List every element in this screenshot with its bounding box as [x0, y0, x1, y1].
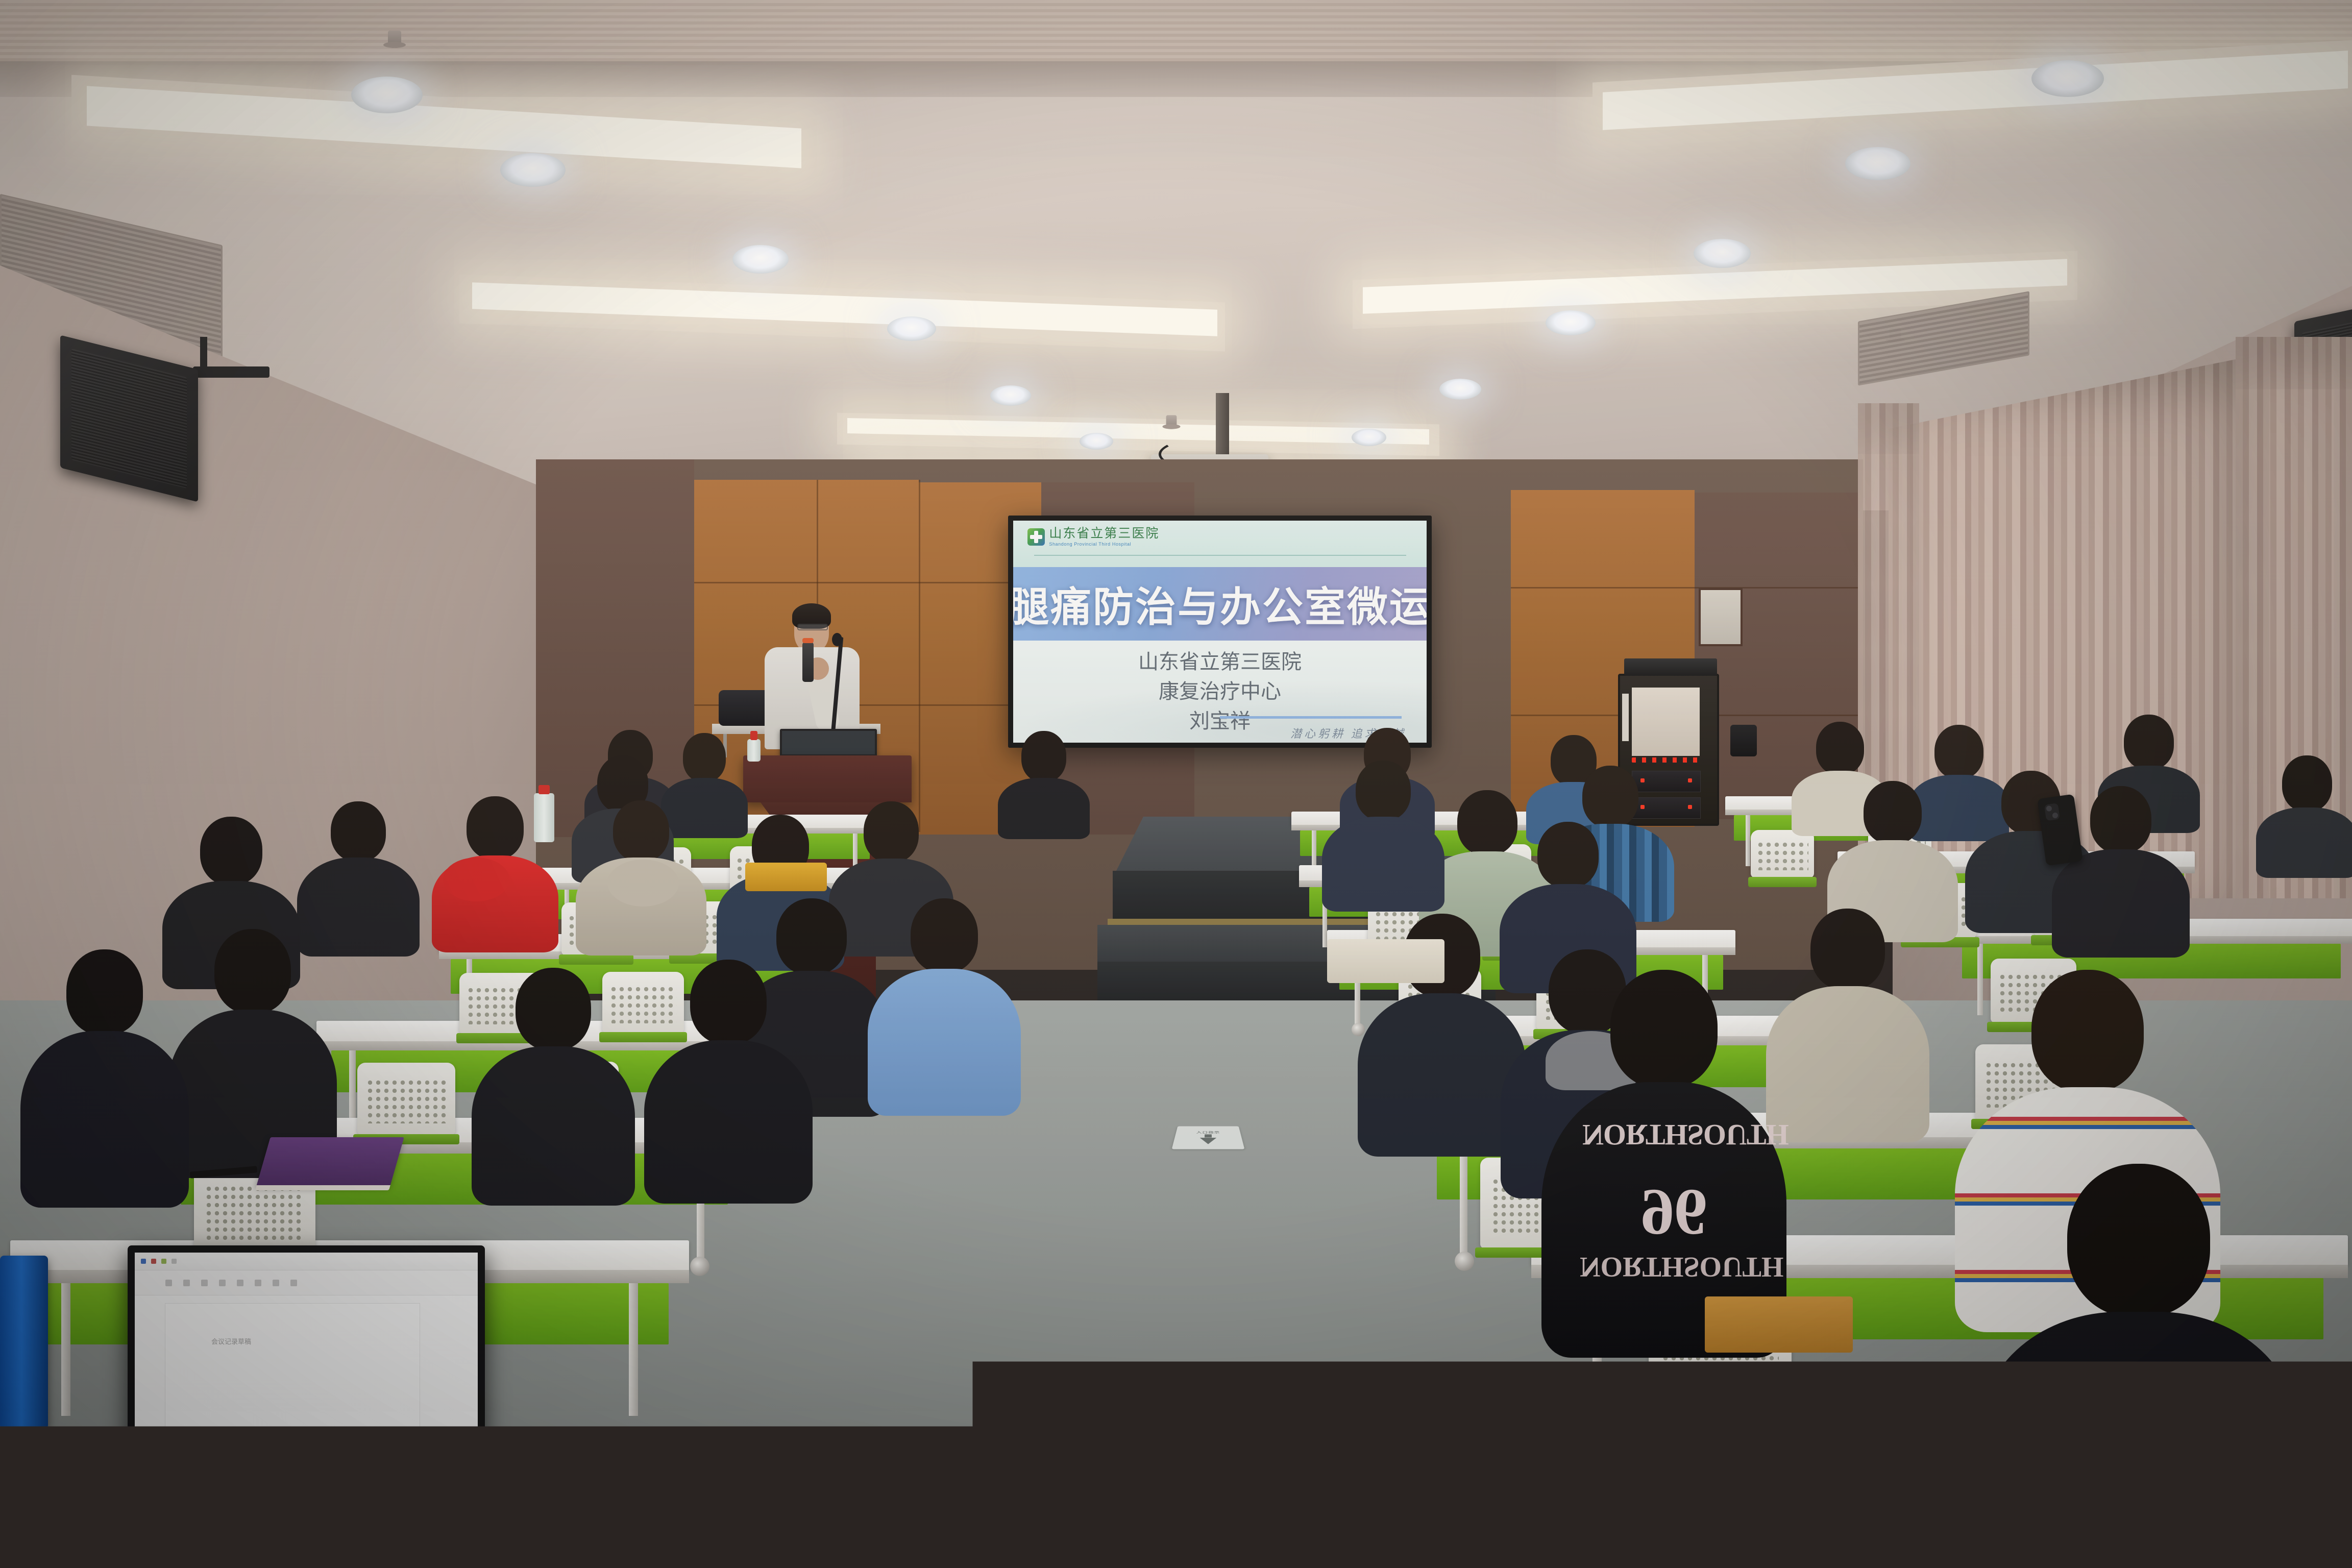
hoodie-hood — [607, 860, 679, 906]
chair-seat — [559, 954, 634, 965]
sprinkler-head-1 — [388, 31, 401, 48]
podium-laptop-screen — [782, 731, 875, 754]
save-icon[interactable] — [151, 1259, 156, 1264]
laptop-base[interactable] — [117, 1496, 496, 1568]
chair — [357, 1063, 455, 1135]
app-toolbar[interactable] — [135, 1270, 478, 1295]
downlight-11 — [1845, 147, 1910, 180]
desk-caster — [690, 1257, 709, 1276]
table-icon[interactable] — [273, 1280, 279, 1286]
affiliation-line-1: 山东省立第三医院 — [1013, 647, 1427, 677]
speaker-arm-left — [193, 366, 269, 378]
podium-top — [743, 755, 912, 802]
slide-title: 颈肩腰腿痛防治与办公室微运动康复 — [1013, 567, 1427, 641]
floor-direction-marker: 入口指示 — [1172, 1126, 1245, 1149]
downlight-10 — [1694, 239, 1751, 268]
slide-affiliation: 山东省立第三医院 康复治疗中心 刘宝祥 — [1013, 647, 1427, 736]
chair — [1751, 830, 1814, 878]
podium-laptop — [780, 729, 877, 756]
bold-icon[interactable] — [165, 1280, 172, 1286]
graffiti-number: 96 — [1623, 1174, 1725, 1251]
laptop-keyboard[interactable] — [136, 1505, 477, 1568]
desk-leg — [629, 1283, 638, 1416]
person-torso — [868, 969, 1021, 1116]
chair-perforations — [1756, 841, 1808, 870]
downlight-1 — [351, 77, 423, 113]
downlight-9 — [1546, 310, 1596, 335]
person-torso — [20, 1031, 189, 1208]
down-arrow-icon — [1199, 1138, 1217, 1144]
bottle-cap — [750, 731, 758, 740]
app-menu-icon[interactable] — [141, 1259, 146, 1264]
yellow-folder — [745, 863, 827, 891]
person-head — [200, 817, 262, 885]
logo-text-cn: 山东省立第三医院 — [1049, 527, 1159, 540]
rack-dust-cover — [1632, 688, 1700, 755]
person-head — [683, 733, 726, 782]
underline-icon[interactable] — [201, 1280, 208, 1286]
hospital-logo: 山东省立第三医院 Shandong Provincial Third Hospi… — [1027, 527, 1159, 547]
speaker-grille-left — [71, 349, 187, 489]
taskbar[interactable] — [135, 1468, 478, 1488]
desk-caster — [1455, 1252, 1474, 1271]
chat-icon[interactable] — [227, 1474, 235, 1482]
downlight-12 — [2031, 60, 2104, 97]
medical-cross-icon — [1027, 528, 1045, 546]
audience-member — [644, 960, 813, 1199]
presentation-slide: 山东省立第三医院 Shandong Provincial Third Hospi… — [1013, 521, 1427, 743]
audience-member-beige-hoodie — [576, 800, 706, 953]
person-torso — [998, 778, 1090, 839]
folder-icon[interactable] — [178, 1474, 186, 1482]
keyboard-row — [136, 1550, 477, 1560]
app-titlebar[interactable] — [135, 1253, 478, 1270]
downlight-4 — [887, 316, 936, 341]
camera-lens-1 — [2046, 805, 2052, 812]
audience-member — [998, 731, 1090, 833]
audio-mixer — [1624, 658, 1717, 676]
person-head — [613, 800, 669, 862]
person-head — [214, 929, 291, 1014]
list-icon[interactable] — [255, 1280, 261, 1286]
desk-leg — [61, 1283, 70, 1416]
person-head — [1356, 761, 1411, 821]
gooseneck-mic-head — [832, 633, 842, 646]
handheld-microphone — [802, 642, 814, 682]
person-head — [864, 801, 919, 863]
chair-seat — [1748, 877, 1817, 887]
person-head — [911, 898, 978, 973]
mail-icon[interactable] — [210, 1474, 218, 1482]
water-bottle-desk[interactable] — [534, 793, 554, 842]
person-torso — [2052, 849, 2190, 958]
rack-led-indicators — [1632, 757, 1700, 763]
document-page[interactable]: 会议记录草稿 — [165, 1304, 419, 1462]
keyboard-row — [136, 1507, 477, 1517]
tote-bag-orange — [1705, 1296, 1853, 1353]
graffiti-text-bottom: NORTHSOUTH — [1580, 1251, 1758, 1283]
person-head — [1021, 731, 1066, 782]
notebook-pages — [255, 1185, 390, 1190]
keyboard-row — [136, 1521, 477, 1531]
downlight-2 — [500, 153, 566, 187]
wood-seam-v2 — [919, 480, 920, 832]
amp-led-2b — [1688, 805, 1692, 809]
camera-on-stand — [1730, 725, 1757, 756]
slide-accent-underline — [1220, 716, 1402, 719]
audience-member — [1322, 761, 1444, 909]
person-head — [1810, 909, 1885, 990]
chair-back — [1751, 830, 1814, 878]
water-bottle-on-podium — [747, 739, 761, 762]
smartphone-held[interactable] — [1972, 1404, 2086, 1568]
person-torso — [472, 1046, 635, 1206]
laptop-screen[interactable]: 会议记录草稿 — [135, 1253, 478, 1488]
chair-perforations — [205, 1185, 304, 1240]
affiliation-line-2: 康复治疗中心 — [1013, 677, 1427, 706]
audience-member — [20, 949, 189, 1205]
audience-member — [1766, 909, 1929, 1138]
sprinkler-head-2 — [1166, 415, 1177, 429]
laptop-lid: 会议记录草稿 — [128, 1245, 485, 1496]
lecture-hall-photo: 山东省立第三医院 Shandong Provincial Third Hospi… — [0, 0, 2352, 1568]
amp-led-1b — [1688, 778, 1692, 782]
person-head — [2090, 786, 2151, 853]
undo-icon[interactable] — [161, 1259, 166, 1264]
audience-member — [2256, 755, 2352, 873]
floor-marker-arrow-stem — [1205, 1134, 1212, 1137]
wood-seam-h3 — [1511, 587, 1858, 589]
camera-lens-2 — [2052, 812, 2058, 818]
person-head — [1537, 822, 1599, 888]
start-icon[interactable] — [145, 1474, 153, 1482]
downlight-7 — [1352, 429, 1386, 446]
keyboard-row — [136, 1564, 477, 1568]
projection-screen-frame: 山东省立第三医院 Shandong Provincial Third Hospi… — [1008, 516, 1432, 748]
downlight-5 — [990, 385, 1031, 406]
person-head — [331, 801, 386, 862]
purple-notebook[interactable] — [256, 1137, 404, 1186]
italic-icon[interactable] — [183, 1280, 190, 1286]
downlight-6 — [1080, 433, 1113, 450]
audience-member — [472, 968, 635, 1203]
slide-header-rule — [1034, 555, 1406, 556]
person-torso — [2256, 807, 2352, 878]
keyboard-row — [136, 1535, 477, 1546]
person-head — [690, 960, 767, 1044]
person-head — [2282, 755, 2332, 812]
person-head — [516, 968, 591, 1050]
camera-lens-2 — [599, 1540, 611, 1553]
chair-seat — [1643, 1411, 1797, 1421]
person-head — [1864, 781, 1922, 844]
notice-paper — [1701, 590, 1741, 644]
align-left-icon[interactable] — [219, 1280, 226, 1286]
person-head — [1582, 766, 1638, 828]
presenter-glasses — [797, 624, 828, 630]
person-head — [1816, 722, 1864, 775]
desk-leg — [1460, 1148, 1467, 1256]
person-torso — [1322, 817, 1444, 912]
graffiti-text-top: NORTHSOUTH — [1582, 1118, 1751, 1152]
person-torso — [1766, 986, 1929, 1142]
audience-member-blue-shirt — [868, 898, 1021, 1113]
person-head — [1610, 970, 1718, 1088]
document-text-line: 会议记录草稿 — [211, 1336, 328, 1346]
person-head — [2124, 715, 2174, 770]
rack-label-sticker — [1622, 694, 1629, 741]
camera-lens-1 — [572, 1526, 586, 1539]
chair-perforations — [366, 1079, 446, 1123]
chair-back — [357, 1063, 455, 1135]
person-head — [467, 796, 524, 860]
hoodie-hood — [443, 857, 509, 901]
browser-icon[interactable] — [194, 1474, 202, 1482]
downlight-3 — [732, 245, 789, 274]
person-head — [66, 949, 143, 1035]
person-head — [2031, 970, 2144, 1092]
desk-leg — [1746, 815, 1750, 866]
phone-camera-icon — [2044, 803, 2060, 821]
beverage-can[interactable] — [0, 1256, 48, 1429]
framed-notice — [1699, 588, 1743, 646]
foreground-laptop[interactable]: 会议记录草稿 — [128, 1245, 485, 1496]
align-center-icon[interactable] — [237, 1280, 243, 1286]
floor-marker-label: 入口指示 — [1196, 1130, 1220, 1134]
image-icon[interactable] — [290, 1280, 297, 1286]
search-icon[interactable] — [161, 1474, 169, 1482]
downlight-8 — [1439, 379, 1481, 400]
canvas-tote-bag — [1327, 939, 1444, 983]
phone-camera-icon — [568, 1516, 615, 1562]
logo-text-en: Shandong Provincial Third Hospital — [1049, 542, 1159, 547]
person-torso — [644, 1040, 813, 1204]
bottle-cap — [538, 785, 550, 794]
trackpoint-icon[interactable] — [303, 1497, 308, 1502]
person-head — [2067, 1164, 2210, 1317]
redo-icon[interactable] — [171, 1259, 177, 1264]
